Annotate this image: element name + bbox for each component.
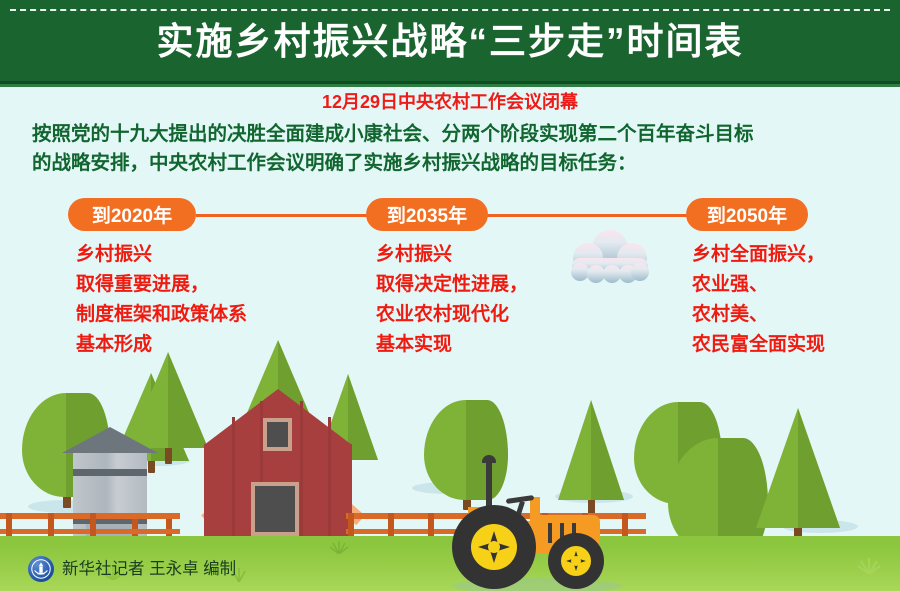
grille-slot (548, 523, 552, 543)
exhaust-cap (482, 455, 496, 463)
milestone-text-2050: 乡村全面振兴， 农业强、 农村美、 农民富全面实现 (692, 240, 825, 360)
milestone-2020-line-2: 取得重要进展， (76, 270, 247, 300)
milestone-2050-line-1: 乡村全面振兴， (692, 240, 825, 270)
silo-roof (62, 427, 158, 453)
tractor-rear-wheel (452, 505, 536, 589)
milestone-2050-line-4: 农民富全面实现 (692, 330, 825, 360)
tractor (452, 455, 612, 565)
milestone-pill-2035[interactable]: 到2035年 (366, 198, 488, 231)
milestone-2035-line-4: 基本实现 (376, 330, 528, 360)
milestone-pill-2020[interactable]: 到2020年 (68, 198, 196, 231)
barn-window (263, 418, 292, 451)
milestone-2050-line-3: 农村美、 (692, 300, 825, 330)
wheel-center (571, 556, 581, 566)
barn-plank-line (232, 417, 235, 536)
conifer-tree (756, 408, 840, 548)
wheel-center (488, 541, 500, 553)
credit-text: 新华社记者 王永卓 编制 (62, 559, 236, 579)
fence-rail (130, 513, 180, 519)
tractor-front-wheel (548, 533, 604, 589)
barn-plank-line (300, 401, 303, 536)
fence-rail (130, 529, 180, 534)
milestone-2035-line-2: 取得决定性进展， (376, 270, 528, 300)
milestone-2020-line-3: 制度框架和政策体系 (76, 300, 247, 330)
milestone-2035-line-3: 农业农村现代化 (376, 300, 528, 330)
xinhua-emblem-icon (28, 556, 54, 582)
milestone-2020-line-1: 乡村振兴 (76, 240, 247, 270)
milestone-2020-line-4: 基本形成 (76, 330, 247, 360)
milestone-text-2035: 乡村振兴 取得决定性进展， 农业农村现代化 基本实现 (376, 240, 528, 360)
milestone-2035-line-1: 乡村振兴 (376, 240, 528, 270)
silo-band (73, 469, 147, 476)
grass-tuft-icon (856, 556, 882, 574)
milestone-text-2020: 乡村振兴 取得重要进展， 制度框架和政策体系 基本形成 (76, 240, 247, 360)
infographic-poster: 实施乡村振兴战略“三步走”时间表 12月29日中央农村工作会议闭幕 按照党的十九… (0, 0, 900, 591)
barn-plank-line (328, 417, 331, 536)
barn-door (251, 482, 299, 536)
grass-tuft-icon (328, 538, 350, 554)
credit-line: 新华社记者 王永卓 编制 (28, 552, 236, 586)
milestone-2050-line-2: 农业强、 (692, 270, 825, 300)
milestone-pill-2050[interactable]: 到2050年 (686, 198, 808, 231)
cloud-icon (560, 228, 660, 290)
tree-foliage-shade (798, 408, 840, 528)
